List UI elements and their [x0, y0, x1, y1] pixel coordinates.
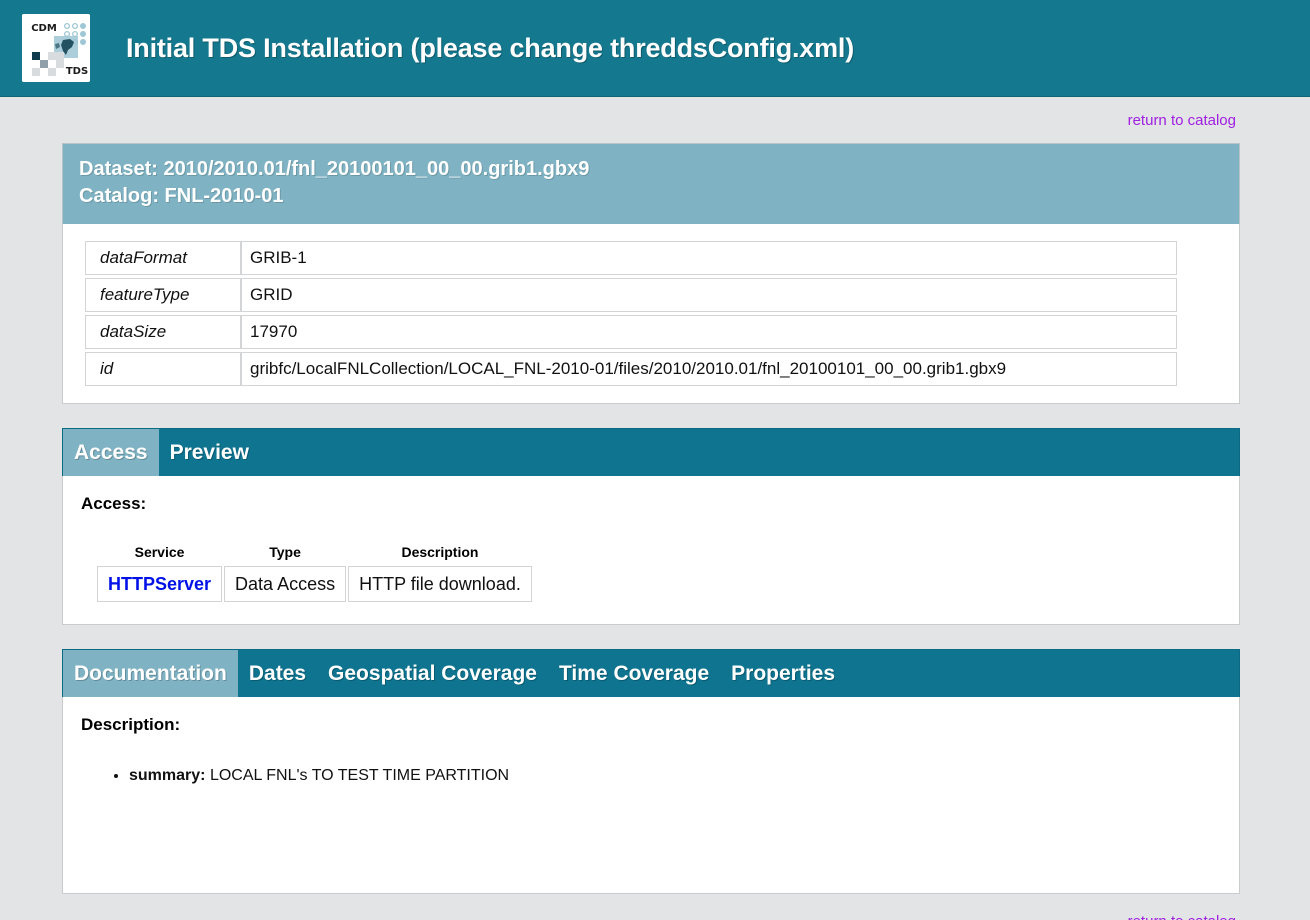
access-type-cell: Data Access [224, 566, 346, 602]
properties-table-wrap: dataFormat GRIB-1 featureType GRID dataS… [63, 224, 1239, 403]
tab-access[interactable]: Access [63, 429, 159, 476]
property-value: GRID [241, 278, 1177, 312]
httpserver-link[interactable]: HTTPServer [108, 574, 211, 594]
list-item: summary: LOCAL FNL's TO TEST TIME PARTIT… [129, 765, 1221, 787]
access-body: Access: Service Type Description HTTPSer… [63, 476, 1239, 624]
svg-text:CDM: CDM [31, 23, 57, 34]
property-key: dataFormat [85, 241, 241, 275]
site-header: CDM TDS Initial TDS Installation (please… [0, 0, 1310, 97]
column-header-service: Service [97, 544, 222, 566]
dataset-properties-panel: dataFormat GRIB-1 featureType GRID dataS… [62, 224, 1240, 404]
tab-dates[interactable]: Dates [238, 650, 317, 697]
table-row: featureType GRID [85, 278, 1177, 312]
logo-svg: CDM TDS [22, 14, 90, 82]
page-title: Initial TDS Installation (please change … [126, 33, 854, 64]
access-tabbar: Access Preview [62, 428, 1240, 476]
documentation-body: Description: summary: LOCAL FNL's TO TES… [63, 697, 1239, 893]
dataset-name: Dataset: 2010/2010.01/fnl_20100101_00_00… [79, 156, 1223, 183]
table-row: id gribfc/LocalFNLCollection/LOCAL_FNL-2… [85, 352, 1177, 386]
access-table: Service Type Description HTTPServer Data… [95, 544, 534, 602]
spacer [0, 404, 1310, 428]
table-row: HTTPServer Data Access HTTP file downloa… [97, 566, 532, 602]
properties-table: dataFormat GRIB-1 featureType GRID dataS… [85, 238, 1177, 389]
dataset-banner: Dataset: 2010/2010.01/fnl_20100101_00_00… [62, 143, 1240, 224]
description-list: summary: LOCAL FNL's TO TEST TIME PARTIT… [81, 765, 1221, 787]
column-header-description: Description [348, 544, 532, 566]
property-value: 17970 [241, 315, 1177, 349]
property-key: featureType [85, 278, 241, 312]
tab-properties[interactable]: Properties [720, 650, 846, 697]
documentation-tabbar: Documentation Dates Geospatial Coverage … [62, 649, 1240, 697]
tab-preview[interactable]: Preview [159, 429, 260, 476]
tab-documentation[interactable]: Documentation [63, 650, 238, 697]
description-item-text: LOCAL FNL's TO TEST TIME PARTITION [210, 767, 509, 784]
description-heading: Description: [81, 715, 1221, 735]
access-panel: Access: Service Type Description HTTPSer… [62, 476, 1240, 625]
tab-time-coverage[interactable]: Time Coverage [548, 650, 720, 697]
bottom-link-row: return to catalog [0, 894, 1310, 920]
access-service-cell: HTTPServer [97, 566, 222, 602]
description-item-label: summary: [129, 767, 205, 784]
table-row: dataFormat GRIB-1 [85, 241, 1177, 275]
property-key: dataSize [85, 315, 241, 349]
tab-geospatial-coverage[interactable]: Geospatial Coverage [317, 650, 548, 697]
column-header-type: Type [224, 544, 346, 566]
access-heading: Access: [81, 494, 1221, 514]
table-row: dataSize 17970 [85, 315, 1177, 349]
svg-text:TDS: TDS [66, 66, 88, 77]
top-link-row: return to catalog [0, 97, 1310, 143]
cdm-tds-logo-icon: CDM TDS [22, 14, 90, 82]
property-value: GRIB-1 [241, 241, 1177, 275]
return-to-catalog-link-top[interactable]: return to catalog [1128, 112, 1236, 129]
return-to-catalog-link-bottom[interactable]: return to catalog [1128, 914, 1236, 920]
property-key: id [85, 352, 241, 386]
access-description-cell: HTTP file download. [348, 566, 532, 602]
catalog-name: Catalog: FNL-2010-01 [79, 183, 1223, 210]
table-header-row: Service Type Description [97, 544, 532, 566]
property-value: gribfc/LocalFNLCollection/LOCAL_FNL-2010… [241, 352, 1177, 386]
spacer [0, 625, 1310, 649]
documentation-panel: Description: summary: LOCAL FNL's TO TES… [62, 697, 1240, 894]
